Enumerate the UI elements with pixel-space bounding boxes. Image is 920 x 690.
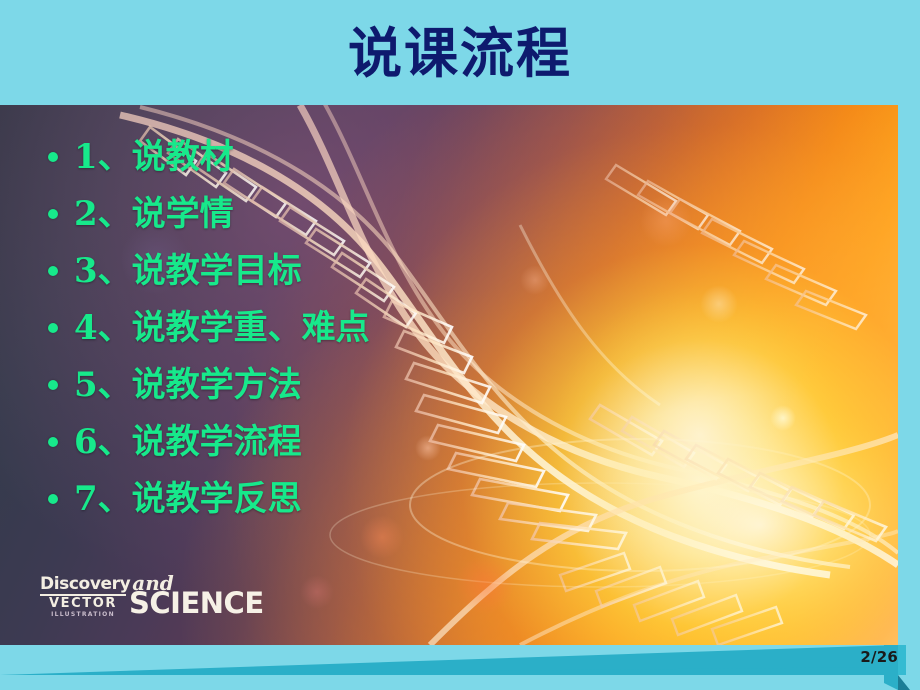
- watermark-logo: Discovery and VECTOR ILLUSTRATION SCIENC…: [40, 574, 264, 619]
- bullet-point-icon: [48, 266, 58, 276]
- outline-list: 1、说教材 2、说学情 3、说教学目标 4、说教学重、难点 5、说教学方法 6、…: [48, 128, 668, 527]
- list-item-label: 7、说教学反思: [74, 479, 302, 519]
- bullet-point-icon: [48, 437, 58, 447]
- footer-ribbon: 2/26: [0, 645, 920, 690]
- list-item-label: 6、说教学流程: [74, 422, 302, 462]
- list-item-label: 5、说教学方法: [74, 365, 302, 405]
- list-item[interactable]: 4、说教学重、难点: [48, 299, 668, 356]
- list-item[interactable]: 1、说教材: [48, 128, 668, 185]
- list-item[interactable]: 7、说教学反思: [48, 470, 668, 527]
- list-item[interactable]: 5、说教学方法: [48, 356, 668, 413]
- bullet-point-icon: [48, 380, 58, 390]
- bullet-point-icon: [48, 209, 58, 219]
- bullet-point-icon: [48, 323, 58, 333]
- logo-vector-text: VECTOR: [40, 597, 126, 611]
- list-item-label: 1、说教材: [74, 137, 234, 177]
- list-item-label: 3、说教学目标: [74, 251, 302, 291]
- page-number-indicator: 2/26: [860, 648, 898, 666]
- list-item[interactable]: 3、说教学目标: [48, 242, 668, 299]
- logo-discovery-text: Discovery: [40, 576, 130, 593]
- bullet-point-icon: [48, 152, 58, 162]
- list-item[interactable]: 2、说学情: [48, 185, 668, 242]
- bullet-point-icon: [48, 494, 58, 504]
- list-item[interactable]: 6、说教学流程: [48, 413, 668, 470]
- logo-science-text: SCIENCE: [129, 590, 264, 616]
- presentation-slide: 说课流程: [0, 0, 920, 690]
- logo-bottom-row: VECTOR ILLUSTRATION SCIENCE: [40, 594, 264, 619]
- list-item-label: 4、说教学重、难点: [74, 308, 370, 348]
- logo-illustration-text: ILLUSTRATION: [40, 611, 126, 619]
- page-title: 说课流程: [0, 22, 920, 84]
- list-item-label: 2、说学情: [74, 194, 234, 234]
- logo-left-stack: VECTOR ILLUSTRATION: [40, 594, 126, 619]
- footer-wedge-shape: [0, 645, 898, 675]
